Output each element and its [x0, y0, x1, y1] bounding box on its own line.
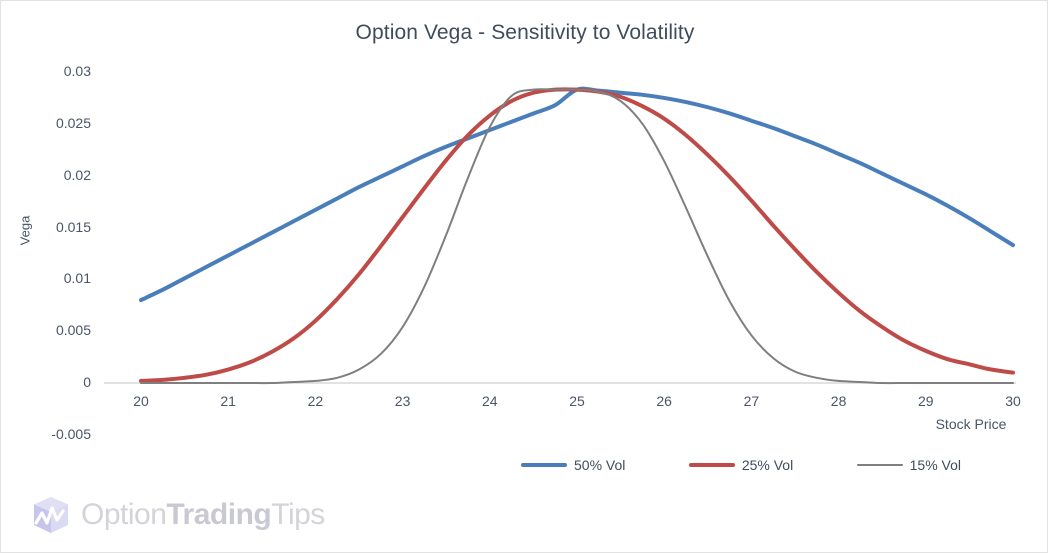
watermark-trading: Trading [166, 498, 271, 531]
legend-item[interactable]: 15% Vol [857, 457, 961, 473]
chart-screenshot: Option Vega - Sensitivity to Volatility … [0, 0, 1048, 553]
cube-wave-logo-icon [29, 493, 73, 537]
legend-item[interactable]: 25% Vol [689, 457, 793, 473]
series-line [141, 89, 1013, 383]
watermark-option: Option [81, 498, 166, 531]
legend-item[interactable]: 50% Vol [521, 457, 625, 473]
chart-legend: 50% Vol25% Vol15% Vol [521, 453, 961, 477]
legend-color-swatch [857, 464, 903, 466]
legend-label: 15% Vol [910, 457, 961, 473]
watermark-logo: OptionTradingTips [29, 493, 325, 537]
series-lines [141, 89, 1013, 383]
legend-label: 25% Vol [742, 457, 793, 473]
series-line [141, 89, 1013, 300]
legend-color-swatch [521, 463, 567, 467]
watermark-tips: Tips [271, 498, 325, 531]
watermark-text: OptionTradingTips [81, 498, 325, 532]
series-line [141, 89, 1013, 381]
legend-color-swatch [689, 463, 735, 467]
legend-label: 50% Vol [574, 457, 625, 473]
